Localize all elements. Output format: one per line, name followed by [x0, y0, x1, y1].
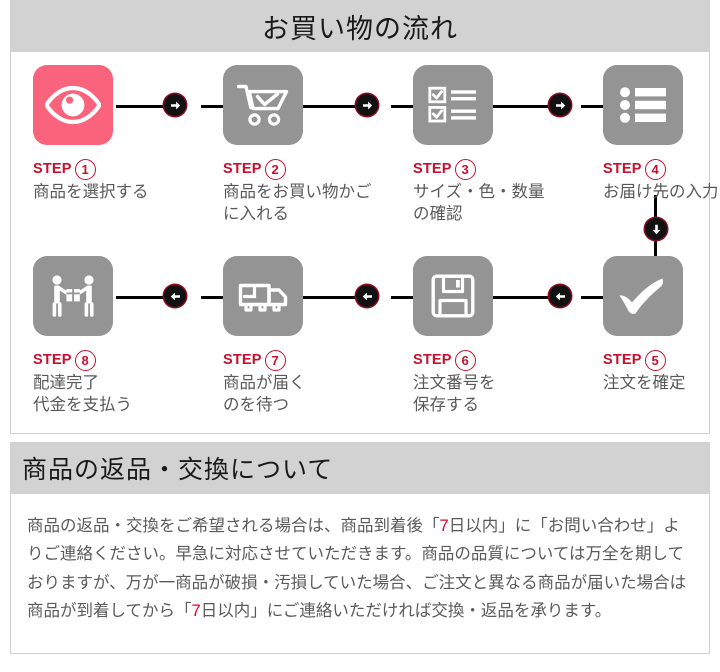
step-word: STEP: [413, 161, 452, 177]
arrow-left-icon: [554, 290, 567, 303]
step-1-label: STEP 1 商品を選択する: [33, 159, 208, 204]
step-7-tile: [223, 256, 303, 336]
step-word: STEP: [33, 161, 72, 177]
step-7-description: 商品が届く のを待つ: [223, 373, 398, 417]
step-5-label: STEP 5 注文を確定: [603, 350, 720, 395]
returns-section-header: 商品の返品・交換について: [10, 442, 710, 494]
returns-paragraph: 商品の返品・交換をご希望される場合は、商品到着後「7日以内」に「お問い合わせ」よ…: [27, 512, 693, 626]
step-7-kicker: STEP 7: [223, 350, 398, 370]
step-4-kicker: STEP 4: [603, 159, 720, 179]
step-3[interactable]: STEP 3 サイズ・色・数量 の確認: [413, 65, 588, 226]
step-8-number: 8: [75, 350, 96, 371]
step-8-tile: [33, 256, 113, 336]
step-3-kicker: STEP 3: [413, 159, 588, 179]
step-word: STEP: [603, 161, 642, 177]
step-word: STEP: [33, 352, 72, 368]
flow-section-title: お買い物の流れ: [262, 7, 458, 46]
floppy-disk-save-icon: [431, 274, 475, 318]
step-3-line-2: の確認: [413, 204, 588, 226]
checklist-icon: [428, 86, 478, 124]
handover-package-icon: [46, 274, 100, 318]
step-6-description: 注文番号を 保存する: [413, 373, 588, 417]
step-2[interactable]: STEP 2 商品をお買い物かご に入れる: [223, 65, 398, 226]
arrow-right-node-2: [356, 94, 378, 116]
step-6-kicker: STEP 6: [413, 350, 588, 370]
step-5[interactable]: STEP 5 注文を確定: [603, 256, 720, 395]
flow-row-1: STEP 1 商品を選択する: [11, 52, 709, 243]
step-1-kicker: STEP 1: [33, 159, 208, 179]
step-word: STEP: [603, 352, 642, 368]
step-4-line-1: お届け先の入力: [603, 182, 720, 204]
arrow-right-icon: [361, 99, 374, 112]
returns-highlight-3: 7: [192, 602, 201, 620]
step-8-line-2: 代金を支払う: [33, 395, 208, 417]
step-4-label: STEP 4 お届け先の入力: [603, 159, 720, 204]
arrow-left-node-3: [549, 285, 571, 307]
step-8-label: STEP 8 配達完了 代金を支払う: [33, 350, 208, 417]
step-word: STEP: [223, 161, 262, 177]
step-7-line-1: 商品が届く: [223, 373, 398, 395]
step-7-label: STEP 7 商品が届く のを待つ: [223, 350, 398, 417]
returns-highlight-1: 7: [440, 517, 449, 535]
returns-section-title: 商品の返品・交換について: [22, 450, 333, 486]
step-6-line-1: 注文番号を: [413, 373, 588, 395]
step-6-line-2: 保存する: [413, 395, 588, 417]
delivery-truck-icon: [236, 277, 290, 315]
section-spacer: [10, 434, 710, 442]
flow-row-2: STEP 8 配達完了 代金を支払う: [11, 243, 709, 434]
step-3-number: 3: [455, 159, 476, 180]
arrow-left-icon: [169, 290, 182, 303]
returns-panel: 商品の返品・交換をご希望される場合は、商品到着後「7日以内」に「お問い合わせ」よ…: [10, 494, 710, 654]
step-3-tile: [413, 65, 493, 145]
step-8-description: 配達完了 代金を支払う: [33, 373, 208, 417]
returns-text-run-0: 商品の返品・交換をご希望される場合は、商品到着後「: [27, 517, 440, 535]
step-1-description: 商品を選択する: [33, 182, 208, 204]
step-3-label: STEP 3 サイズ・色・数量 の確認: [413, 159, 588, 226]
step-8-line-1: 配達完了: [33, 373, 208, 395]
bulleted-list-icon: [619, 86, 667, 124]
step-5-description: 注文を確定: [603, 373, 720, 395]
step-5-line-1: 注文を確定: [603, 373, 720, 395]
step-word: STEP: [413, 352, 452, 368]
step-5-kicker: STEP 5: [603, 350, 720, 370]
shopping-cart-icon: [237, 83, 289, 127]
step-4-number: 4: [645, 159, 666, 180]
step-1-tile: [33, 65, 113, 145]
step-3-description: サイズ・色・数量 の確認: [413, 182, 588, 226]
returns-text-run-4: 日以内」にご連絡いただければ交換・返品を承ります。: [201, 602, 612, 620]
step-6-number: 6: [455, 350, 476, 371]
arrow-left-icon: [361, 290, 374, 303]
arrow-down-node: [645, 218, 667, 240]
step-1[interactable]: STEP 1 商品を選択する: [33, 65, 208, 204]
arrow-down-icon: [650, 223, 663, 236]
step-8[interactable]: STEP 8 配達完了 代金を支払う: [33, 256, 208, 417]
step-5-number: 5: [645, 350, 666, 371]
step-2-description: 商品をお買い物かご に入れる: [223, 182, 398, 226]
step-2-number: 2: [265, 159, 286, 180]
step-7-line-2: のを待つ: [223, 395, 398, 417]
step-2-line-1: 商品をお買い物かご: [223, 182, 398, 204]
arrow-left-node-2: [356, 285, 378, 307]
step-3-line-1: サイズ・色・数量: [413, 182, 588, 204]
step-2-line-2: に入れる: [223, 204, 398, 226]
arrow-right-node-1: [164, 94, 186, 116]
step-8-kicker: STEP 8: [33, 350, 208, 370]
eye-icon: [45, 85, 101, 125]
step-4-description: お届け先の入力: [603, 182, 720, 204]
arrow-right-node-3: [549, 94, 571, 116]
step-1-number: 1: [75, 159, 96, 180]
step-5-tile: [603, 256, 683, 336]
arrow-left-node-1: [164, 285, 186, 307]
step-7-number: 7: [265, 350, 286, 371]
step-4[interactable]: STEP 4 お届け先の入力: [603, 65, 720, 204]
shopping-flow-page: お買い物の流れ: [0, 0, 720, 672]
checkmark-icon: [617, 275, 669, 317]
step-6-label: STEP 6 注文番号を 保存する: [413, 350, 588, 417]
step-1-line-1: 商品を選択する: [33, 182, 208, 204]
step-6-tile: [413, 256, 493, 336]
step-word: STEP: [223, 352, 262, 368]
step-4-tile: [603, 65, 683, 145]
step-2-kicker: STEP 2: [223, 159, 398, 179]
flow-section-header: お買い物の流れ: [10, 0, 710, 52]
step-2-label: STEP 2 商品をお買い物かご に入れる: [223, 159, 398, 226]
step-6[interactable]: STEP 6 注文番号を 保存する: [413, 256, 588, 417]
arrow-right-icon: [169, 99, 182, 112]
step-7[interactable]: STEP 7 商品が届く のを待つ: [223, 256, 398, 417]
flow-panel: STEP 1 商品を選択する: [10, 52, 710, 434]
arrow-right-icon: [554, 99, 567, 112]
step-2-tile: [223, 65, 303, 145]
